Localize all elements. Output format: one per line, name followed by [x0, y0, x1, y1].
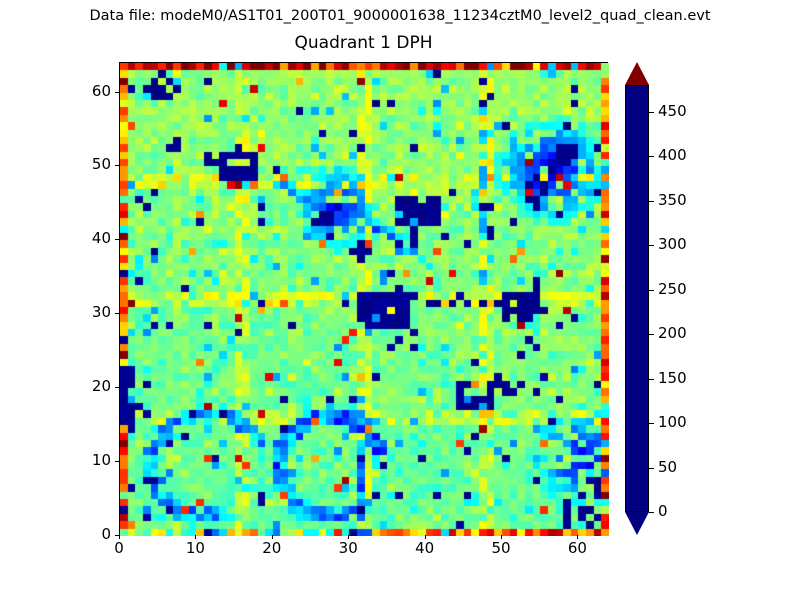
- y-tick: [115, 165, 119, 166]
- colorbar-tick-label: 400: [658, 147, 687, 164]
- colorbar-gradient: [625, 85, 649, 512]
- y-tick: [115, 239, 119, 240]
- x-tick-label: 10: [175, 540, 215, 557]
- x-tick-label: 30: [328, 540, 368, 557]
- data-file-title: Data file: modeM0/AS1T01_200T01_90000016…: [0, 7, 800, 25]
- colorbar-tick-label: 450: [658, 103, 687, 120]
- x-tick-label: 20: [252, 540, 292, 557]
- heatmap-axes: [119, 62, 608, 535]
- colorbar-tick: [649, 379, 654, 380]
- y-tick-label: 40: [71, 230, 111, 247]
- colorbar-tick-label: 150: [658, 370, 687, 387]
- colorbar-tick: [649, 468, 654, 469]
- y-tick-label: 30: [71, 304, 111, 321]
- colorbar-tick: [649, 245, 654, 246]
- x-tick-label: 50: [481, 540, 521, 557]
- y-tick-label: 60: [71, 83, 111, 100]
- page-title: Quadrant 1 DPH: [119, 32, 608, 54]
- y-tick: [115, 535, 119, 536]
- colorbar-tick: [649, 156, 654, 157]
- colorbar-tick-label: 100: [658, 414, 687, 431]
- y-tick: [115, 313, 119, 314]
- colorbar-tick: [649, 290, 654, 291]
- colorbar-tick-label: 0: [658, 503, 668, 520]
- colorbar-tick-label: 350: [658, 192, 687, 209]
- y-tick: [115, 92, 119, 93]
- colorbar-tick-label: 300: [658, 236, 687, 253]
- colorbar-tick: [649, 112, 654, 113]
- y-tick-label: 0: [71, 526, 111, 543]
- y-tick: [115, 461, 119, 462]
- colorbar-tick: [649, 512, 654, 513]
- y-tick-label: 20: [71, 378, 111, 395]
- colorbar-tick: [649, 334, 654, 335]
- colorbar-under-arrow: [625, 512, 649, 535]
- colorbar-tick-label: 200: [658, 325, 687, 342]
- heatmap-image: [120, 63, 609, 536]
- x-tick-label: 60: [557, 540, 597, 557]
- colorbar-tick: [649, 423, 654, 424]
- colorbar-tick: [649, 201, 654, 202]
- colorbar: 050100150200250300350400450: [625, 62, 649, 535]
- y-tick-label: 50: [71, 156, 111, 173]
- y-tick: [115, 387, 119, 388]
- y-tick-label: 10: [71, 452, 111, 469]
- colorbar-tick-label: 250: [658, 281, 687, 298]
- x-tick-label: 40: [405, 540, 445, 557]
- colorbar-over-arrow: [625, 62, 649, 85]
- colorbar-tick-label: 50: [658, 459, 677, 476]
- figure-canvas: Data file: modeM0/AS1T01_200T01_90000016…: [0, 0, 800, 600]
